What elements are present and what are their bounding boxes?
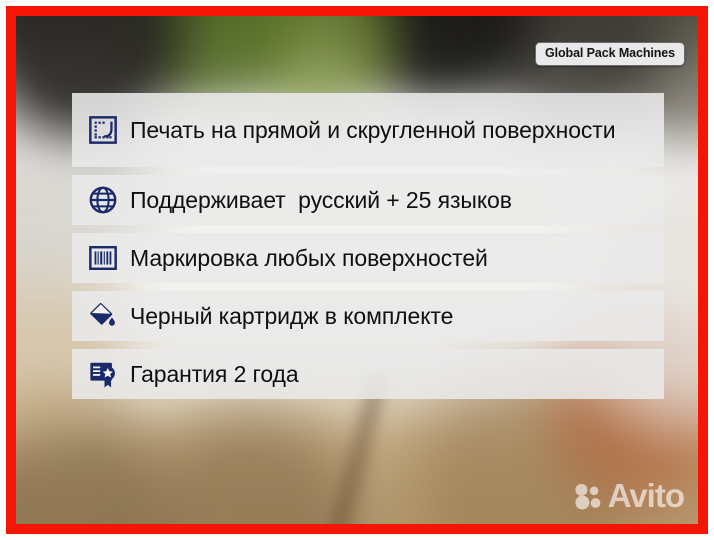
- feature-row: Маркировка любых поверхностей: [72, 233, 664, 283]
- feature-row: Печать на прямой и скругленной поверхнос…: [72, 93, 664, 167]
- feature-label: Поддерживает русский + 25 языков: [130, 187, 512, 214]
- feature-row: Черный картридж в комплекте: [72, 291, 664, 341]
- feature-label: Печать на прямой и скругленной поверхнос…: [130, 117, 615, 144]
- bordered-image-frame: Global Pack Machines: [6, 6, 708, 534]
- globe-icon: [88, 185, 118, 215]
- award-certificate-icon: [88, 359, 118, 389]
- barcode-icon: [88, 243, 118, 273]
- ink-bucket-icon: [88, 301, 118, 331]
- feature-label: Гарантия 2 года: [130, 361, 299, 388]
- feature-list: Печать на прямой и скругленной поверхнос…: [72, 93, 664, 399]
- avito-wordmark: Avito: [608, 479, 684, 512]
- avito-watermark: Avito: [573, 479, 684, 512]
- avito-logo-icon: [573, 481, 603, 511]
- feature-label: Черный картридж в комплекте: [130, 303, 453, 330]
- feature-row: Гарантия 2 года: [72, 349, 664, 399]
- brand-badge: Global Pack Machines: [535, 42, 685, 66]
- feature-label: Маркировка любых поверхностей: [130, 245, 488, 272]
- rounded-corner-surface-icon: [88, 115, 118, 145]
- feature-row: Поддерживает русский + 25 языков: [72, 175, 664, 225]
